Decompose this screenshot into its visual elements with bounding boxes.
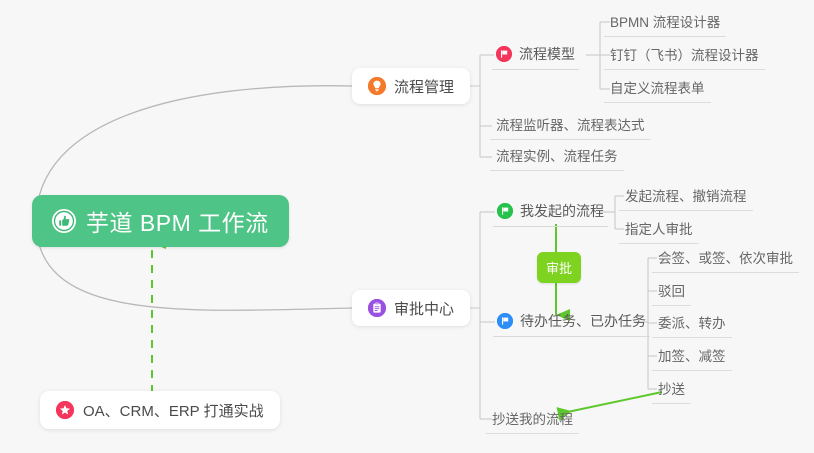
- leaf-node-delegate-transfer[interactable]: 委派、转办: [652, 312, 732, 338]
- root-label: 芋道 BPM 工作流: [86, 204, 269, 238]
- sub-node-my-initiated[interactable]: 我发起的流程: [493, 201, 608, 227]
- branch-node-approval-center[interactable]: 审批中心: [352, 290, 470, 326]
- sub-label-todo-done-tasks: 待办任务、已办任务: [520, 311, 646, 331]
- lightbulb-icon: [368, 77, 386, 95]
- sub-node-todo-done-tasks[interactable]: 待办任务、已办任务: [493, 311, 650, 337]
- branch-node-process-management[interactable]: 流程管理: [352, 68, 470, 104]
- leaf-node-bpmn-designer[interactable]: BPMN 流程设计器: [604, 11, 726, 37]
- leaf-node-countersign[interactable]: 会签、或签、依次审批: [652, 247, 799, 273]
- flag-icon: [497, 203, 513, 219]
- flag-icon: [496, 46, 512, 62]
- flag-icon: [497, 313, 513, 329]
- star-icon: [56, 401, 74, 419]
- branch-label-approval-center: 审批中心: [394, 298, 454, 319]
- leaf-node-reject[interactable]: 驳回: [652, 280, 691, 306]
- leaf-node-dingtalk-designer[interactable]: 钉钉（飞书）流程设计器: [604, 44, 765, 70]
- leaf-node-start-cancel-process[interactable]: 发起流程、撤销流程: [619, 185, 753, 211]
- tag-badge-approval[interactable]: 审批: [537, 252, 581, 283]
- leaf-node-add-remove-sign[interactable]: 加签、减签: [652, 345, 732, 371]
- sub-label-process-model: 流程模型: [519, 44, 575, 64]
- leaf-node-custom-form[interactable]: 自定义流程表单: [604, 77, 711, 103]
- leaf-node-cc-to-me[interactable]: 抄送我的流程: [486, 408, 579, 434]
- branch-label-process-management: 流程管理: [394, 76, 454, 97]
- leaf-node-process-listener[interactable]: 流程监听器、流程表达式: [490, 114, 651, 140]
- leaf-node-assignee-approval[interactable]: 指定人审批: [619, 218, 699, 244]
- card-node-integration[interactable]: OA、CRM、ERP 打通实战: [40, 391, 280, 429]
- root-node[interactable]: 芋道 BPM 工作流: [32, 195, 289, 247]
- leaf-node-process-instance[interactable]: 流程实例、流程任务: [490, 145, 624, 171]
- thumbs-up-icon: [52, 209, 76, 233]
- card-label-integration: OA、CRM、ERP 打通实战: [83, 400, 264, 421]
- clipboard-icon: [368, 299, 386, 317]
- mindmap-canvas: 芋道 BPM 工作流 流程管理 流程模型 BPMN 流程设计器 钉钉（飞书）流程…: [0, 0, 814, 453]
- sub-node-process-model[interactable]: 流程模型: [492, 44, 579, 70]
- sub-label-my-initiated: 我发起的流程: [520, 201, 604, 221]
- leaf-node-cc[interactable]: 抄送: [652, 378, 691, 404]
